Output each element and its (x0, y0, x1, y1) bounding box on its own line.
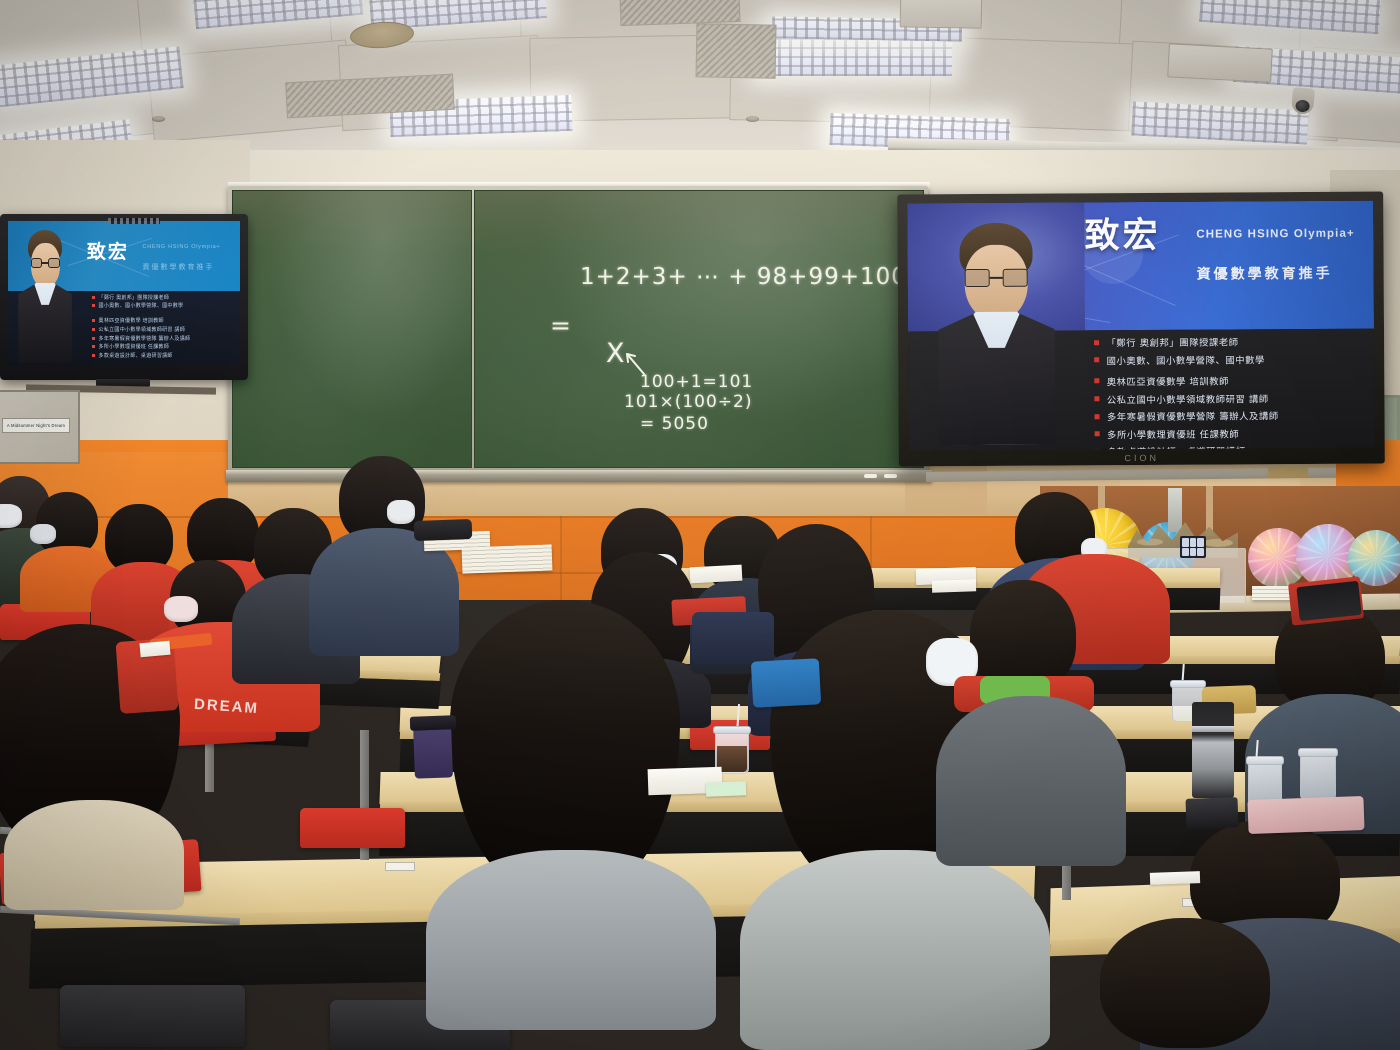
bullet-square-icon (92, 304, 95, 307)
bullet-text: 奧林匹亞資優數學 培訓教師 (1107, 373, 1229, 388)
bullet-text: 國小奧數、國小數學營隊、國中數學 (1107, 352, 1265, 367)
list-item: 多所小學數理資優班 任課教師 (1095, 425, 1365, 441)
slide-bullet-list: 「鄭行 奧創邦」團隊授課老師 國小奧數、國小數學營隊、國中數學 奧林匹亞資優數學… (1094, 334, 1365, 450)
student-center-foreground (420, 600, 710, 1020)
drink-cup[interactable] (1300, 752, 1336, 800)
list-item: 國小奧數、國小數學營隊、國中數學 (92, 302, 236, 309)
presentation-slide: 致宏 CHENG HSING Olympia+ 資優數學教育推手 「鄭行 奧創邦… (907, 201, 1375, 451)
smoke-detector-icon (746, 116, 759, 122)
student-head (1100, 918, 1270, 1048)
left-slide-portrait (17, 230, 73, 363)
list-item: 「鄭行 奧創邦」團隊授課老師 (1094, 334, 1364, 350)
face-mask (30, 524, 56, 544)
tumbler-ring (1192, 726, 1234, 732)
cup-lid (1246, 756, 1284, 765)
chalk-work-line-1: 100+1=101 (640, 372, 753, 392)
bullet-text: 「鄭行 奧創邦」團隊授課老師 (99, 294, 170, 301)
chalk-x-mark: X (606, 338, 626, 369)
chalk-equals-sign: = (550, 311, 572, 340)
student-hair (450, 600, 680, 890)
cup-lid (1170, 680, 1206, 688)
bullet-text: 公私立國中小數學領域教師研習 講師 (1107, 391, 1269, 406)
bullet-group-1: 「鄭行 奧創邦」團隊授課老師 國小奧數、國小數學營隊、國中數學 (1094, 334, 1364, 367)
chalk-dust-overlay (233, 191, 471, 467)
left-slide-bullet-list: 「鄭行 奧創邦」團隊授課老師 國小奧數、國小數學營隊、國中數學 奧林匹亞資優數學… (92, 294, 236, 362)
bullet-text: 多款桌遊設計師、桌遊研習講師 (1107, 444, 1246, 451)
air-vent (696, 23, 777, 78)
bullet-square-icon (92, 328, 95, 331)
blackboard-panel-left (232, 190, 472, 468)
chalk-stick[interactable] (884, 474, 897, 478)
chair[interactable] (60, 985, 245, 1047)
bullet-text: 多所小學數理資優班 任課教師 (1107, 426, 1239, 441)
bullet-square-icon (92, 319, 95, 322)
student-body (426, 850, 716, 1030)
sticky-note[interactable] (706, 781, 746, 796)
ac-diffuser (1167, 43, 1273, 82)
pencil-case-blue[interactable] (751, 658, 821, 707)
bullet-text: 「鄭行 奧創邦」團隊授課老師 (1106, 335, 1238, 350)
bullet-square-icon (92, 354, 95, 357)
ac-duct (900, 0, 983, 29)
book-stack[interactable] (462, 544, 553, 573)
student-masked (930, 580, 1120, 860)
list-item: 公私立國中小數學領域教師研習 講師 (1095, 390, 1365, 406)
left-wall-monitor[interactable]: 致宏 CHENG HSING Olympia+ 資優數學教育推手 「鄭行 奧創邦… (0, 214, 248, 380)
slide-subtitle-en: CHENG HSING Olympia+ (1196, 228, 1355, 241)
coffee-cup-lid (410, 715, 456, 731)
chalk-stick[interactable] (864, 474, 877, 478)
left-slide-subtitle-en: CHENG HSING Olympia+ (143, 244, 221, 250)
bullet-square-icon (1095, 449, 1100, 450)
left-slide-title: 致宏 (87, 237, 129, 264)
student (1070, 918, 1300, 1050)
list-item: 公私立國中小數學領域教師研習 講師 (92, 326, 236, 333)
bullet-square-icon (1095, 414, 1100, 419)
monitor-brand-logo (108, 218, 160, 224)
smoke-detector-icon (152, 116, 165, 122)
bullet-text: 多年寒暑假資優數學營隊 籌辦人及講師 (99, 335, 191, 342)
dice-tray[interactable] (1180, 536, 1206, 558)
bullet-text: 多所小學數理資優班 任課教師 (99, 343, 170, 350)
desk-nameplate (385, 862, 415, 871)
chalk-work-line-3: = 5050 (640, 414, 709, 434)
bullet-text: 國小奧數、國小數學營隊、國中數學 (99, 302, 184, 309)
slide-title: 致宏 (1084, 219, 1160, 254)
paper-sheet[interactable] (932, 579, 976, 593)
face-mask (0, 504, 22, 528)
list-item: 「鄭行 奧創邦」團隊授課老師 (92, 294, 236, 301)
bullet-square-icon (1095, 432, 1100, 437)
bullet-square-icon (92, 296, 95, 299)
bullet-text: 奧林匹亞資優數學 培訓教師 (99, 317, 164, 324)
main-presentation-screen[interactable]: 致宏 CHENG HSING Olympia+ 資優數學教育推手 「鄭行 奧創邦… (897, 192, 1385, 467)
classroom-photo-scene: 1+2+3+ ⋯ + 98+99+100 = X 100+1=101 101×(… (0, 0, 1400, 1050)
screen-brand-logo: CION (1125, 453, 1160, 463)
mirror-strip (1168, 488, 1182, 532)
backpack[interactable] (692, 612, 774, 664)
list-item: 國小奧數、國小數學營隊、國中數學 (1095, 352, 1365, 368)
list-item: 多款桌遊設計師、桌遊研習講師 (1095, 443, 1365, 450)
paper-sheet[interactable] (139, 641, 170, 658)
coffee-cup[interactable] (413, 723, 453, 778)
air-vent (620, 0, 741, 26)
bullet-text: 公私立國中小數學領域教師研習 講師 (99, 326, 186, 333)
student (315, 456, 435, 646)
face-mask (387, 500, 415, 524)
wall-tile-grout (560, 516, 562, 602)
paper-sheet[interactable] (1150, 871, 1200, 885)
thermos-tumbler[interactable] (1192, 702, 1234, 798)
left-monitor-slide: 致宏 CHENG HSING Olympia+ 資優數學教育推手 「鄭行 奧創邦… (8, 221, 240, 366)
blackboard-eraser[interactable] (1268, 466, 1308, 479)
ceiling-light (756, 36, 952, 76)
bullet-group-2: 奧林匹亞資優數學 培訓教師 公私立國中小數學領域教師研習 講師 多年寒暑假資優數… (1095, 373, 1366, 451)
list-item: 奧林匹亞資優數學 培訓教師 (92, 317, 236, 324)
bullet-square-icon (1095, 379, 1100, 384)
chalk-work-line-2: 101×(100÷2) (624, 392, 752, 412)
student-body (740, 850, 1050, 1050)
cup-lid (713, 726, 751, 734)
left-slide-subtitle-zh: 資優數學教育推手 (143, 262, 215, 272)
glasses-icon (965, 269, 1028, 287)
bullet-square-icon (92, 337, 95, 340)
wall-plaque-label: A Midsummer Night's Dream (2, 418, 70, 433)
paper-sheet[interactable] (690, 565, 743, 584)
slide-subtitle-zh: 資優數學教育推手 (1197, 263, 1333, 284)
chalk-equation-line: 1+2+3+ ⋯ + 98+99+100 (580, 264, 907, 290)
student-body (4, 800, 184, 910)
smartphone[interactable] (1185, 797, 1238, 829)
bullet-square-icon (1094, 340, 1099, 345)
list-item: 奧林匹亞資優數學 培訓教師 (1095, 373, 1365, 389)
list-item: 多年寒暑假資優數學營隊 籌辦人及講師 (92, 335, 236, 342)
glasses-icon (31, 258, 60, 269)
blackboard: 1+2+3+ ⋯ + 98+99+100 = X 100+1=101 101×(… (228, 186, 928, 472)
face-mask (164, 596, 198, 622)
laptop[interactable] (1296, 581, 1361, 621)
cup-lid (1298, 748, 1338, 757)
list-item: 多款桌遊設計師、桌遊研習講師 (92, 352, 236, 359)
bullet-text: 多年寒暑假資優數學營隊 籌辦人及講師 (1107, 408, 1279, 423)
list-item: 多年寒暑假資優數學營隊 籌辦人及講師 (1095, 408, 1365, 424)
left-monitor-screen: 致宏 CHENG HSING Olympia+ 資優數學教育推手 「鄭行 奧創邦… (8, 221, 240, 366)
bullet-square-icon (1095, 358, 1100, 363)
student-body (936, 696, 1126, 866)
list-item: 多所小學數理資優班 任課教師 (92, 343, 236, 350)
chair[interactable] (300, 808, 405, 848)
bullet-square-icon (92, 345, 95, 348)
pencil-case-pink[interactable] (1247, 796, 1364, 834)
speaker-portrait (935, 222, 1058, 445)
bullet-square-icon (1095, 396, 1100, 401)
pencil-case-black[interactable] (414, 519, 473, 541)
bullet-text: 多款桌遊設計師、桌遊研習講師 (99, 352, 173, 359)
